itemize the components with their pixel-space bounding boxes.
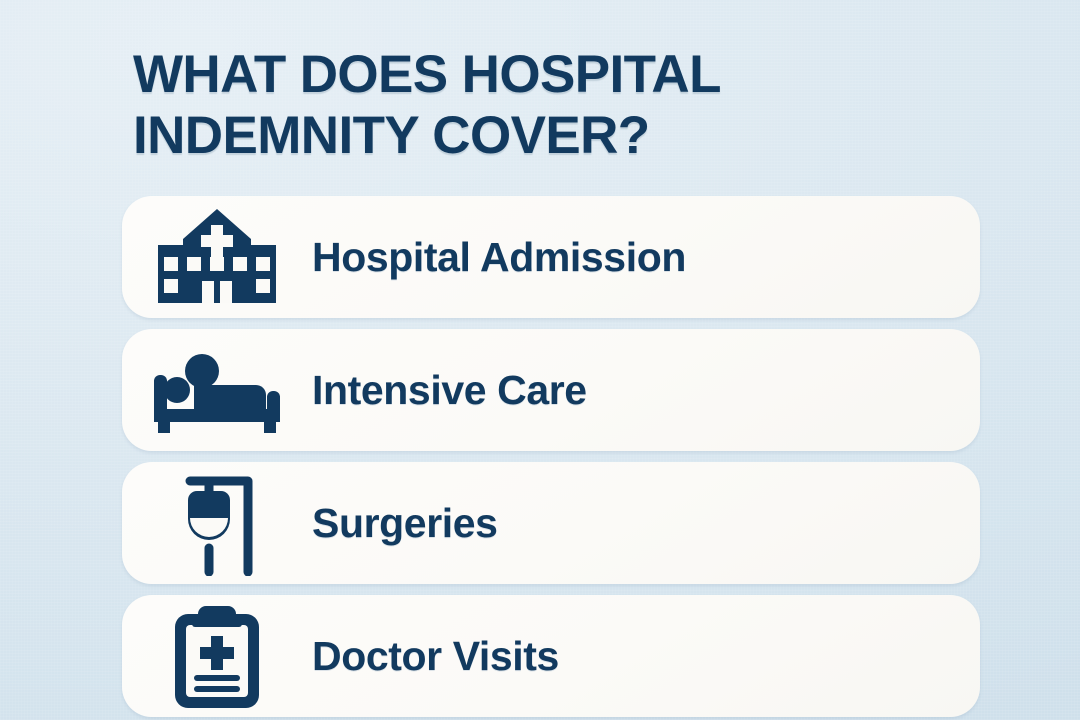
medical-clipboard-icon (122, 595, 312, 717)
page-title-line-1: WHAT DOES HOSPITAL (133, 44, 933, 105)
benefit-card-hospital-admission[interactable]: Hospital Admission (122, 196, 980, 318)
benefits-list: Hospital Admission (122, 196, 980, 717)
benefit-card-doctor-visits[interactable]: Doctor Visits (122, 595, 980, 717)
infographic-page: WHAT DOES HOSPITAL INDEMNITY COVER? (0, 0, 1080, 720)
page-title: WHAT DOES HOSPITAL INDEMNITY COVER? (133, 44, 933, 167)
benefit-label: Hospital Admission (312, 234, 686, 281)
iv-drip-icon (122, 462, 312, 584)
benefit-label: Intensive Care (312, 367, 587, 414)
benefit-card-surgeries[interactable]: Surgeries (122, 462, 980, 584)
benefit-label: Surgeries (312, 500, 498, 547)
benefit-label: Doctor Visits (312, 633, 559, 680)
page-title-line-2: INDEMNITY COVER? (133, 105, 933, 166)
benefit-card-intensive-care[interactable]: Intensive Care (122, 329, 980, 451)
patient-in-bed-icon (122, 329, 312, 451)
hospital-building-icon (122, 196, 312, 318)
